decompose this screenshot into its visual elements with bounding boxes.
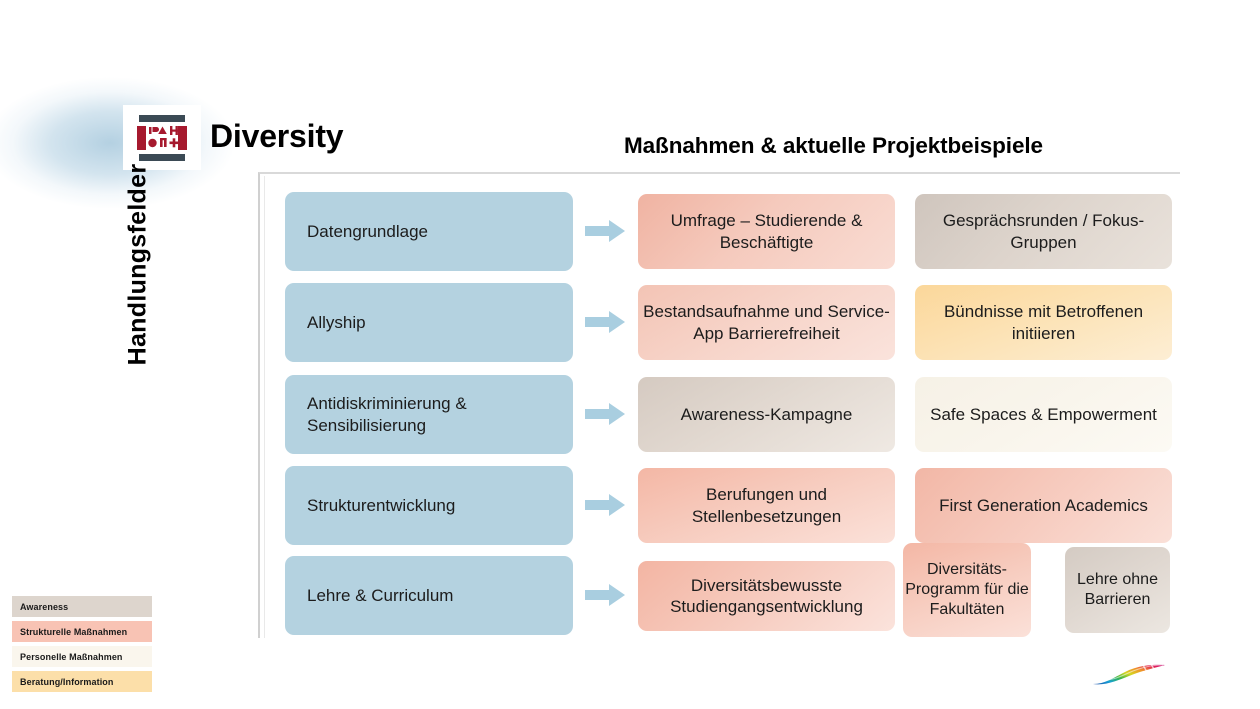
- field-box-strukturentwicklung[interactable]: Strukturentwicklung: [285, 466, 573, 545]
- diagram-row: Allyship Bestandsaufnahme und Service-Ap…: [0, 283, 1260, 363]
- legend: Awareness Strukturelle Maßnahmen Persone…: [12, 596, 152, 696]
- field-box-lehre-curriculum[interactable]: Lehre & Curriculum: [285, 556, 573, 635]
- diagram-row: Strukturentwicklung Berufungen und Stell…: [0, 466, 1260, 546]
- measure-box[interactable]: Umfrage – Studierende & Beschäftigte: [638, 194, 895, 269]
- measure-box[interactable]: Bündnisse mit Betroffenen initiieren: [915, 285, 1172, 360]
- measure-box[interactable]: Awareness-Kampagne: [638, 377, 895, 452]
- measure-box[interactable]: Diversitäts-Programm für die Fakultäten: [903, 543, 1031, 637]
- measure-box[interactable]: Safe Spaces & Empowerment: [915, 377, 1172, 452]
- legend-item-strukturelle-massnahmen[interactable]: Strukturelle Maßnahmen: [12, 621, 152, 642]
- legend-item-personelle-massnahmen[interactable]: Personelle Maßnahmen: [12, 646, 152, 667]
- measure-box[interactable]: Berufungen und Stellenbesetzungen: [638, 468, 895, 543]
- legend-item-awareness[interactable]: Awareness: [12, 596, 152, 617]
- right-arrow-icon: [585, 220, 625, 242]
- measure-box[interactable]: First Generation Academics: [915, 468, 1172, 543]
- diagram-row: Datengrundlage Umfrage – Studierende & B…: [0, 192, 1260, 272]
- rainbow-swoosh-logo: [1091, 662, 1167, 690]
- right-arrow-icon: [585, 494, 625, 516]
- diagram-row: Antidiskriminierung & Sensibilisierung A…: [0, 375, 1260, 455]
- right-arrow-icon: [585, 311, 625, 333]
- page-title: Diversity: [210, 118, 343, 155]
- diagram-row: Lehre & Curriculum Diversitätsbewusste S…: [0, 556, 1260, 636]
- right-arrow-icon: [585, 403, 625, 425]
- field-box-allyship[interactable]: Allyship: [285, 283, 573, 362]
- field-box-antidiskriminierung[interactable]: Antidiskriminierung & Sensibilisierung: [285, 375, 573, 454]
- legend-item-beratung-information[interactable]: Beratung/Information: [12, 671, 152, 692]
- right-arrow-icon: [585, 584, 625, 606]
- measure-box[interactable]: Lehre ohne Barrieren: [1065, 547, 1170, 633]
- measure-box[interactable]: Gesprächsrunden / Fokus-Gruppen: [915, 194, 1172, 269]
- measure-box[interactable]: Bestandsaufnahme und Service-App Barrier…: [638, 285, 895, 360]
- field-box-datengrundlage[interactable]: Datengrundlage: [285, 192, 573, 271]
- chart-heading: Maßnahmen & aktuelle Projektbeispiele: [624, 133, 1043, 159]
- measure-box[interactable]: Diversitätsbewusste Studiengangsentwickl…: [638, 561, 895, 631]
